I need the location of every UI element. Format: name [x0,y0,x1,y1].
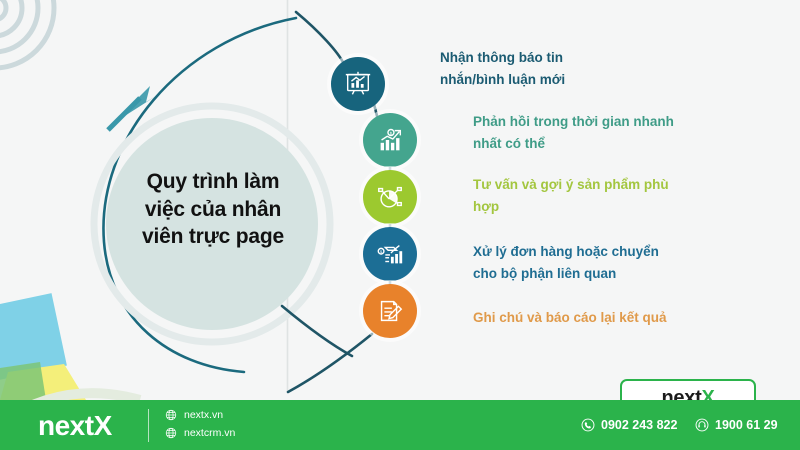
globe-icon [165,409,177,421]
footer-logo: nextX [38,410,112,442]
globe-icon [165,427,177,439]
page-title: Quy trình làm việc của nhân viên trực pa… [110,168,316,251]
footer-phone-2-label: 1900 61 29 [715,418,778,432]
step-label-5: Ghi chú và báo cáo lại kết quả [473,307,673,329]
footer-site-1[interactable]: nextx.vn [165,409,223,421]
page-title-line-1: Quy trình làm [110,168,316,196]
footer-bar [0,400,800,450]
step-node-3[interactable] [363,170,417,224]
pie-chart-icon [375,182,405,212]
step-node-1[interactable] [331,57,385,111]
footer-phone-2[interactable]: 1900 61 29 [695,418,778,432]
slide-canvas: Quy trình làm việc của nhân viên trực pa… [0,0,800,450]
step-label-1: Nhận thông báo tin nhắn/bình luận mới [440,47,608,91]
concentric-arcs-icon [0,0,54,68]
step-label-4: Xử lý đơn hàng hoặc chuyển cho bộ phận l… [473,241,683,285]
footer-site-2-label: nextcrm.vn [184,427,235,439]
step-label-2: Phản hồi trong thời gian nhanh nhất có t… [473,111,678,155]
growth-chart-icon: $ [375,125,405,155]
step-node-5[interactable] [363,284,417,338]
step-node-2[interactable]: $ [363,113,417,167]
footer-divider [148,409,149,442]
step-label-3: Tư vấn và gợi ý sản phẩm phù hợp [473,174,678,218]
page-title-line-3: viên trực page [110,223,316,251]
phone-support-icon [695,418,709,432]
phone-icon [581,418,595,432]
page-title-line-2: việc của nhân [110,196,316,224]
footer-phone-1[interactable]: 0902 243 822 [581,418,677,432]
footer-site-1-label: nextx.vn [184,409,223,421]
presentation-chart-icon [343,69,373,99]
note-pencil-icon [375,296,405,326]
step-node-4[interactable]: $ [363,227,417,281]
bar-chart-report-icon: $ [375,239,405,269]
green-shape [0,362,46,400]
footer-phone-1-label: 0902 243 822 [601,418,677,432]
footer-site-2[interactable]: nextcrm.vn [165,427,235,439]
